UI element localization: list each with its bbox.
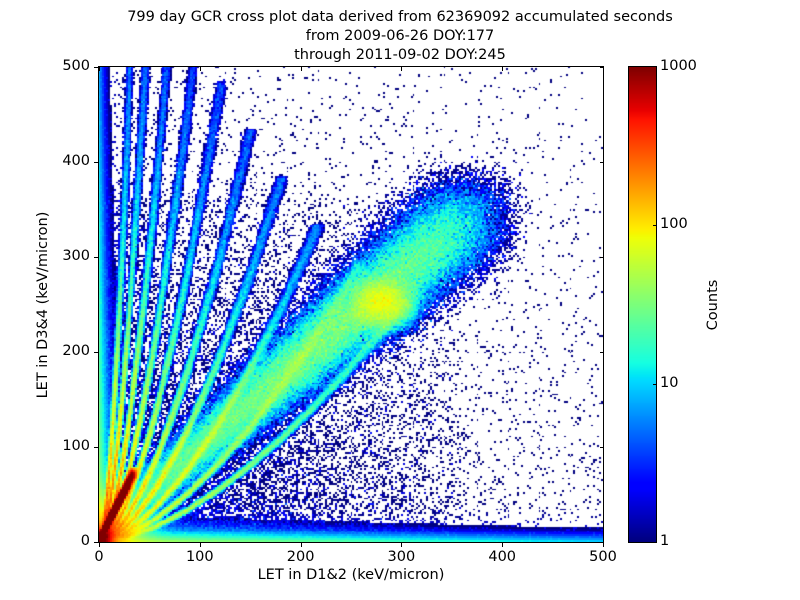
colorbar-gradient [629,67,656,542]
y-axis-label: LET in D3&4 (keV/micron) [35,66,51,544]
colorbar-tick-label: 1 [660,533,669,549]
colorbar-label: Counts [705,165,721,445]
y-tick-mark [94,67,98,68]
colorbar-tick-mark [653,225,657,226]
x-tick-mark [401,543,402,547]
x-tick-label: 500 [563,549,643,565]
y-tick-mark [94,257,98,258]
y-tick-label: 0 [18,533,90,549]
title-line-2: from 2009-06-26 DOY:177 [0,27,800,46]
x-tick-mark-top [99,67,100,71]
colorbar [628,66,657,543]
colorbar-tick-label: 1000 [660,58,697,74]
y-tick-mark-right [600,447,604,448]
y-tick-label: 300 [18,248,90,264]
x-axis-label: LET in D1&2 (keV/micron) [98,567,604,583]
x-tick-mark-top [401,67,402,71]
y-tick-mark [94,352,98,353]
x-tick-label: 100 [160,549,240,565]
x-tick-label: 0 [59,549,139,565]
x-tick-mark [99,543,100,547]
y-tick-mark-right [600,162,604,163]
figure-canvas: 799 day GCR cross plot data derived from… [0,0,800,600]
title-line-1: 799 day GCR cross plot data derived from… [0,8,800,27]
y-tick-mark [94,447,98,448]
x-tick-mark-top [301,67,302,71]
y-tick-mark [94,542,98,543]
y-tick-label: 400 [18,153,90,169]
y-tick-label: 200 [18,343,90,359]
x-tick-label: 400 [462,549,542,565]
figure-title: 799 day GCR cross plot data derived from… [0,8,800,65]
x-tick-label: 200 [261,549,341,565]
x-tick-label: 300 [361,549,441,565]
y-tick-mark [94,162,98,163]
plot-area [98,66,604,543]
x-tick-mark [200,543,201,547]
y-tick-label: 100 [18,438,90,454]
x-tick-mark-top [200,67,201,71]
x-tick-mark [502,543,503,547]
y-tick-mark-right [600,352,604,353]
colorbar-tick-label: 100 [660,216,688,232]
x-tick-mark [603,543,604,547]
y-tick-mark-right [600,257,604,258]
y-tick-mark-right [600,67,604,68]
colorbar-tick-label: 10 [660,375,678,391]
colorbar-tick-mark [653,384,657,385]
y-tick-label: 500 [18,58,90,74]
y-tick-mark-right [600,542,604,543]
x-tick-mark-top [502,67,503,71]
x-tick-mark [301,543,302,547]
scatter-density-plot [99,67,603,542]
